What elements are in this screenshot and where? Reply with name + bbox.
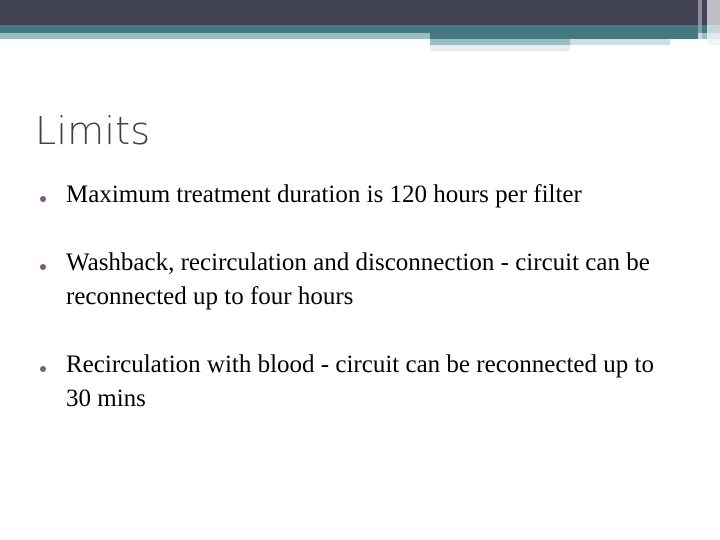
banner-band-pale-upper (570, 39, 670, 45)
bullet-dot-icon (40, 196, 46, 202)
slide-title: Limits (35, 108, 150, 154)
slide-body: Maximum treatment duration is 120 hours … (40, 178, 680, 416)
list-item-text: Washback, recirculation and disconnectio… (66, 246, 680, 314)
banner-band-teal (0, 25, 720, 33)
banner-stripe-pale-bottom (707, 39, 720, 45)
bullet-marker (40, 348, 66, 377)
slide-header-banner (0, 0, 720, 56)
banner-stripe-pale-upper (707, 0, 720, 25)
bullet-marker (40, 246, 66, 275)
banner-band-pale-lower (430, 45, 570, 51)
banner-stripe-pale-teal (707, 25, 720, 33)
list-item-text: Maximum treatment duration is 120 hours … (66, 178, 680, 212)
list-item: Washback, recirculation and disconnectio… (40, 246, 680, 314)
banner-band-light-left (0, 33, 430, 39)
banner-band-dark (0, 0, 720, 25)
slide-canvas: Limits Maximum treatment duration is 120… (0, 0, 720, 540)
bullet-marker (40, 178, 66, 207)
bullet-dot-icon (40, 264, 46, 270)
list-item-text: Recirculation with blood - circuit can b… (66, 348, 680, 416)
bullet-dot-icon (40, 366, 46, 372)
list-item: Maximum treatment duration is 120 hours … (40, 178, 680, 212)
list-item: Recirculation with blood - circuit can b… (40, 348, 680, 416)
